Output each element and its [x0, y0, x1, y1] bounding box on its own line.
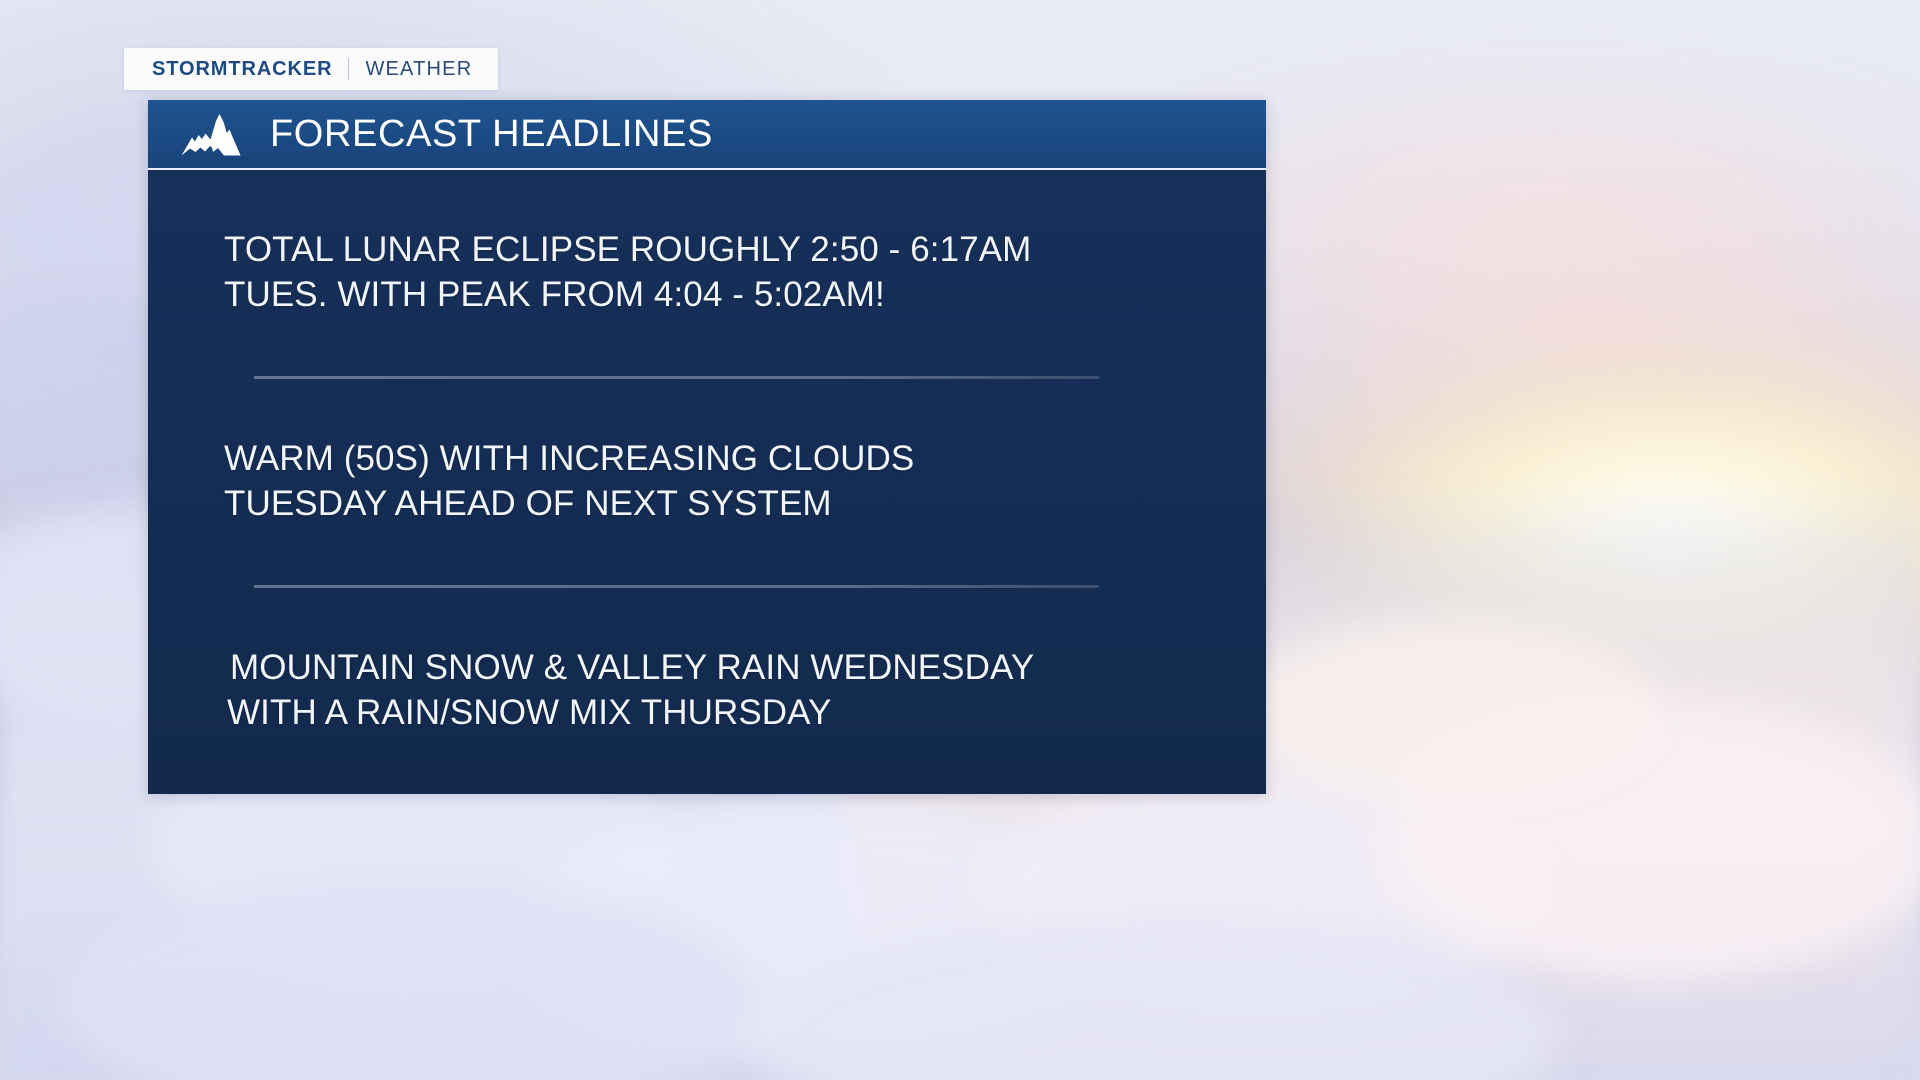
forecast-headlines-panel: FORECAST HEADLINES TOTAL LUNAR ECLIPSE R…	[148, 100, 1266, 794]
headline-line: MOUNTAIN SNOW & VALLEY RAIN WEDNESDAY	[182, 646, 1232, 691]
brand-primary-label: STORMTRACKER	[152, 58, 332, 81]
headline-line: TUESDAY AHEAD OF NEXT SYSTEM	[182, 482, 1232, 527]
headline-line: TUES. WITH PEAK FROM 4:04 - 5:02AM!	[182, 273, 1232, 318]
page-title: FORECAST HEADLINES	[270, 115, 713, 153]
brand-separator	[348, 58, 349, 80]
brand-secondary-label: WEATHER	[365, 58, 472, 81]
panel-header: FORECAST HEADLINES	[148, 100, 1266, 170]
weather-graphic-stage: STORMTRACKER WEATHER FORECAST HEADLINES …	[0, 0, 1920, 1080]
headline-item: TOTAL LUNAR ECLIPSE ROUGHLY 2:50 - 6:17A…	[182, 170, 1232, 376]
cloud-puff-6	[1240, 620, 1660, 800]
panel-body: TOTAL LUNAR ECLIPSE ROUGHLY 2:50 - 6:17A…	[148, 170, 1266, 794]
mountain-icon	[180, 112, 242, 156]
headline-item: MOUNTAIN SNOW & VALLEY RAIN WEDNESDAY WI…	[182, 588, 1232, 794]
brand-tab: STORMTRACKER WEATHER	[124, 48, 498, 90]
headline-line: WITH A RAIN/SNOW MIX THURSDAY	[182, 691, 1232, 736]
headline-item: WARM (50S) WITH INCREASING CLOUDS TUESDA…	[182, 379, 1232, 585]
headline-line: TOTAL LUNAR ECLIPSE ROUGHLY 2:50 - 6:17A…	[182, 228, 1232, 273]
headline-line: WARM (50S) WITH INCREASING CLOUDS	[182, 437, 1232, 482]
